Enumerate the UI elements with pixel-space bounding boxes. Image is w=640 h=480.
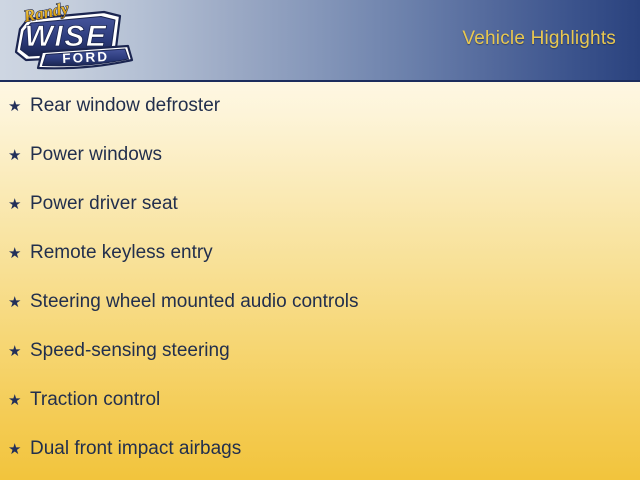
star-icon: ★ <box>8 246 30 261</box>
slide-header: WISE Randy FORD Vehicle Highlights <box>0 0 640 82</box>
vehicle-features-list: ★ Rear window defroster ★ Power windows … <box>0 82 640 474</box>
feature-label: Dual front impact airbags <box>30 438 241 461</box>
feature-label: Traction control <box>30 389 160 412</box>
list-item: ★ Power driver seat <box>0 180 640 229</box>
list-item: ★ Power windows <box>0 131 640 180</box>
list-item: ★ Rear window defroster <box>0 82 640 131</box>
star-icon: ★ <box>8 442 30 457</box>
feature-label: Power windows <box>30 144 162 167</box>
feature-label: Rear window defroster <box>30 95 220 118</box>
randy-wise-ford-logo: WISE Randy FORD <box>8 2 144 80</box>
page-title: Vehicle Highlights <box>462 28 616 50</box>
feature-label: Remote keyless entry <box>30 242 213 265</box>
star-icon: ★ <box>8 295 30 310</box>
list-item: ★ Remote keyless entry <box>0 229 640 278</box>
star-icon: ★ <box>8 148 30 163</box>
feature-label: Speed-sensing steering <box>30 340 230 363</box>
list-item: ★ Dual front impact airbags <box>0 425 640 474</box>
svg-text:FORD: FORD <box>62 49 110 66</box>
star-icon: ★ <box>8 344 30 359</box>
star-icon: ★ <box>8 393 30 408</box>
star-icon: ★ <box>8 197 30 212</box>
star-icon: ★ <box>8 99 30 114</box>
feature-label: Power driver seat <box>30 193 178 216</box>
list-item: ★ Speed-sensing steering <box>0 327 640 376</box>
feature-label: Steering wheel mounted audio controls <box>30 291 358 314</box>
list-item: ★ Traction control <box>0 376 640 425</box>
list-item: ★ Steering wheel mounted audio controls <box>0 278 640 327</box>
vehicle-highlights-slide: WISE Randy FORD Vehicle Highlights ★ Rea… <box>0 0 640 480</box>
